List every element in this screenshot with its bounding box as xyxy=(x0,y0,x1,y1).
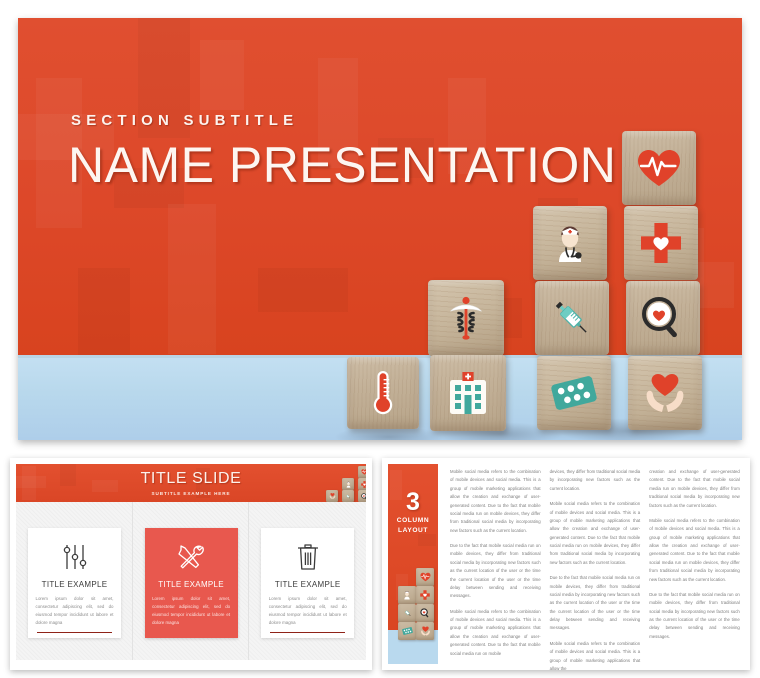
mini2-heartbeat-icon xyxy=(420,572,431,582)
thumbnail-title-slide[interactable]: TITLE SLIDE SUBTITLE EXAMPLE HERE xyxy=(10,458,372,670)
trash-icon xyxy=(296,542,320,572)
paragraph: Mobile social media refers to the combin… xyxy=(450,468,541,535)
syringe-icon xyxy=(550,296,594,340)
mini2-cross-heart-icon xyxy=(420,590,430,600)
feature-card-1[interactable]: TITLE EXAMPLE Lorem ipsum dolor sit amet… xyxy=(28,528,121,638)
hands-heart-icon xyxy=(642,373,688,413)
page-title: NAME PRESENTATION xyxy=(68,136,616,194)
feature-card-title: TITLE EXAMPLE xyxy=(42,580,108,589)
feature-card-title: TITLE EXAMPLE xyxy=(158,580,224,589)
nurse-icon xyxy=(549,222,591,264)
feature-card-3[interactable]: TITLE EXAMPLE Lorem ipsum dolor sit amet… xyxy=(261,528,354,638)
text-columns: Mobile social media refers to the combin… xyxy=(450,468,740,660)
mini2-syringe-icon xyxy=(403,608,412,618)
wood-block-hands-heart[interactable] xyxy=(628,356,702,430)
mini2-nurse-icon xyxy=(402,590,412,600)
thumb-title-text: TITLE SLIDE xyxy=(16,470,366,488)
hero-kicker: SECTION SUBTITLE xyxy=(71,112,298,129)
sliders-icon xyxy=(62,542,88,572)
wood-block-heartbeat[interactable] xyxy=(622,131,696,205)
pills-blister-icon xyxy=(551,376,597,410)
content-column-2: TITLE EXAMPLE Lorem ipsum dolor sit amet… xyxy=(133,502,250,660)
wood-block-caduceus[interactable] xyxy=(428,280,504,356)
tools-icon xyxy=(177,542,205,572)
content-column-1: TITLE EXAMPLE Lorem ipsum dolor sit amet… xyxy=(16,502,133,660)
column-count-number: 3 xyxy=(388,488,438,517)
wood-block-hospital[interactable] xyxy=(430,355,506,431)
wood-block-magnifier-heart[interactable] xyxy=(626,281,700,355)
feature-card-text: Lorem ipsum dolor sit amet, consectetur … xyxy=(269,595,347,628)
paragraph: Mobile social media refers to the combin… xyxy=(649,517,740,584)
paragraph: Due to the fact that mobile social media… xyxy=(649,591,740,641)
paragraph: Mobile social media refers to the combin… xyxy=(450,608,541,658)
mini2-hands-heart-icon xyxy=(420,626,431,636)
wood-block-syringe[interactable] xyxy=(535,281,609,355)
medical-cross-heart-icon xyxy=(640,222,682,264)
card-underline xyxy=(37,632,112,633)
wood-block-cross-heart[interactable] xyxy=(624,206,698,280)
paragraph: creation and exchange of user-generated … xyxy=(649,468,740,510)
paragraph: Due to the fact that mobile social media… xyxy=(450,542,541,601)
mini2-pills-icon xyxy=(402,627,413,635)
paragraph: Mobile social media refers to the combin… xyxy=(550,640,641,670)
text-column-2: devices, they differ from traditional so… xyxy=(550,468,641,660)
paragraph: Due to the fact that mobile social media… xyxy=(550,574,641,633)
thumb-title-body: TITLE EXAMPLE Lorem ipsum dolor sit amet… xyxy=(16,502,366,660)
mini2-magnifier-heart-icon xyxy=(420,608,430,618)
thumb-title-header: TITLE SLIDE SUBTITLE EXAMPLE HERE xyxy=(16,464,366,502)
heartbeat-icon xyxy=(636,148,682,188)
card-underline xyxy=(270,632,345,633)
paragraph: devices, they differ from traditional so… xyxy=(550,468,641,493)
text-column-1: Mobile social media refers to the combin… xyxy=(450,468,541,660)
wood-block-thermometer[interactable] xyxy=(347,357,419,429)
feature-card-text: Lorem ipsum dolor sit amet, consectetur … xyxy=(36,595,114,628)
column-layout-label-line2: LAYOUT xyxy=(398,527,428,534)
column-layout-label: COLUMN LAYOUT xyxy=(388,516,438,536)
wood-block-nurse[interactable] xyxy=(533,206,607,280)
paragraph: Mobile social media refers to the combin… xyxy=(550,500,641,567)
thumbnail-column-layout-slide[interactable]: 3 COLUMN LAYOUT xyxy=(382,458,750,670)
feature-card-title: TITLE EXAMPLE xyxy=(275,580,341,589)
column-layout-sidebar: 3 COLUMN LAYOUT xyxy=(388,464,438,664)
hero-slide[interactable]: SECTION SUBTITLE NAME PRESENTATION xyxy=(18,18,742,440)
wood-block-pills[interactable] xyxy=(537,356,611,430)
column-layout-label-line1: COLUMN xyxy=(397,517,430,524)
caduceus-icon xyxy=(445,296,487,340)
content-column-3: TITLE EXAMPLE Lorem ipsum dolor sit amet… xyxy=(249,502,366,660)
presentation-template-preview: SECTION SUBTITLE NAME PRESENTATION xyxy=(0,0,760,678)
thumb-subtitle-text: SUBTITLE EXAMPLE HERE xyxy=(16,491,366,496)
feature-card-2[interactable]: TITLE EXAMPLE Lorem ipsum dolor sit amet… xyxy=(145,528,238,638)
feature-card-text: Lorem ipsum dolor sit amet, consectetur … xyxy=(152,595,230,628)
thermometer-icon xyxy=(370,370,396,416)
hospital-icon xyxy=(446,372,490,414)
text-column-3: creation and exchange of user-generated … xyxy=(649,468,740,660)
magnifier-heart-icon xyxy=(641,296,685,340)
